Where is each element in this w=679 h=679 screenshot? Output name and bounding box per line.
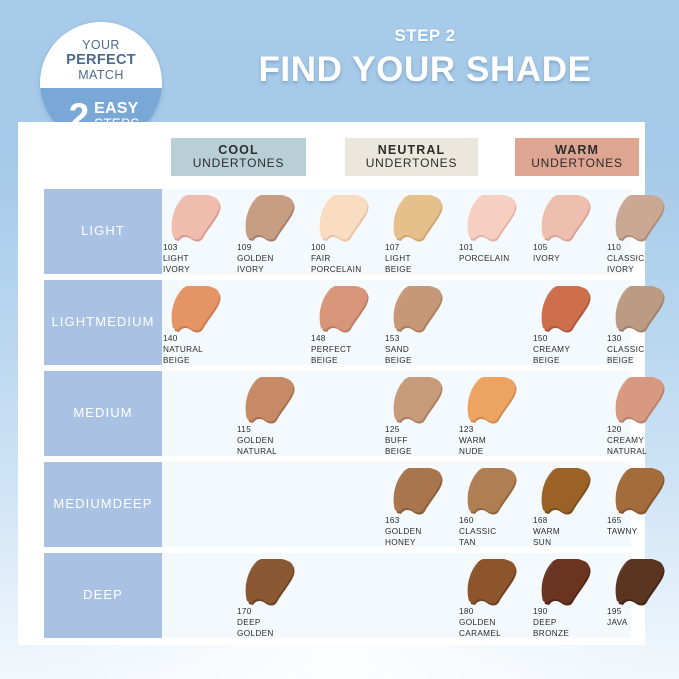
- foundation-swatch-icon: [461, 468, 523, 518]
- shade-code: 105: [533, 243, 605, 254]
- shade-name-line2: BEIGE: [385, 356, 457, 367]
- step-label: STEP 2: [190, 26, 660, 46]
- foundation-swatch-icon: [387, 377, 449, 427]
- foundation-swatch-icon: [165, 195, 227, 245]
- undertone-name-neutral: NEUTRAL: [378, 144, 445, 158]
- shade-name-line2: IVORY: [163, 265, 235, 276]
- shade-cell[interactable]: 109GOLDENIVORY: [237, 189, 305, 274]
- shade-cell[interactable]: 110CLASSICIVORY: [607, 189, 675, 274]
- undertone-name-warm: WARM: [555, 144, 599, 158]
- shade-name-line1: WARM: [459, 436, 531, 447]
- shade-label: 107LIGHTBEIGE: [385, 243, 457, 276]
- shade-name-line2: HONEY: [385, 538, 457, 549]
- shade-label: 160CLASSICTAN: [459, 516, 531, 549]
- shade-label: 170DEEPGOLDEN: [237, 607, 309, 640]
- header-block: STEP 2 FIND YOUR SHADE: [190, 26, 660, 90]
- undertone-header-neutral: NEUTRAL UNDERTONES: [345, 138, 478, 176]
- shade-cell[interactable]: 163GOLDENHONEY: [385, 462, 453, 547]
- shade-code: 140: [163, 334, 235, 345]
- shade-cell[interactable]: 101PORCELAIN: [459, 189, 527, 274]
- shade-name-line1: GOLDEN: [237, 254, 309, 265]
- depth-label: MEDIUMDEEP: [44, 462, 162, 547]
- depth-label-word: DEEP: [83, 587, 123, 603]
- shade-name-line1: DEEP: [237, 618, 309, 629]
- shade-label: 120CREAMYNATURAL: [607, 425, 679, 458]
- shade-cell[interactable]: 107LIGHTBEIGE: [385, 189, 453, 274]
- shade-name-line2: NUDE: [459, 447, 531, 458]
- shade-cell[interactable]: 120CREAMYNATURAL: [607, 371, 675, 456]
- shade-cell[interactable]: 160CLASSICTAN: [459, 462, 527, 547]
- shade-label: 140NATURALBEIGE: [163, 334, 235, 367]
- swatch-track: 163GOLDENHONEY160CLASSICTAN168WARMSUN165…: [163, 462, 645, 547]
- shade-name-line1: GOLDEN: [459, 618, 531, 629]
- undertone-sub-neutral: UNDERTONES: [366, 157, 458, 170]
- shade-name-line1: CLASSIC: [459, 527, 531, 538]
- foundation-swatch-icon: [609, 377, 671, 427]
- shade-cell[interactable]: 150CREAMYBEIGE: [533, 280, 601, 365]
- depth-label: DEEP: [44, 553, 162, 638]
- shade-label: 153SANDBEIGE: [385, 334, 457, 367]
- shade-cell[interactable]: 123WARMNUDE: [459, 371, 527, 456]
- shade-code: 125: [385, 425, 457, 436]
- depth-label-word: DEEP: [113, 496, 153, 512]
- badge-line-perfect: PERFECT: [66, 52, 136, 68]
- swatch-track: 140NATURALBEIGE148PERFECTBEIGE153SANDBEI…: [163, 280, 645, 365]
- shade-code: 100: [311, 243, 383, 254]
- shade-cell[interactable]: 125BUFFBEIGE: [385, 371, 453, 456]
- shade-name-line1: SAND: [385, 345, 457, 356]
- undertone-name-cool: COOL: [218, 144, 259, 158]
- shade-cell[interactable]: 165TAWNY: [607, 462, 675, 547]
- shade-name-line2: BEIGE: [533, 356, 605, 367]
- swatch-track: 170DEEPGOLDEN180GOLDENCARAMEL190DEEPBRON…: [163, 553, 645, 638]
- depth-label-word: LIGHT: [81, 223, 125, 239]
- foundation-swatch-icon: [165, 286, 227, 336]
- badge-line-easy: EASY: [94, 101, 139, 117]
- shade-cell[interactable]: 195JAVA: [607, 553, 675, 638]
- shade-chart-card: COOL UNDERTONES NEUTRAL UNDERTONES WARM …: [18, 122, 645, 645]
- shade-label: 165TAWNY: [607, 516, 679, 538]
- foundation-swatch-icon: [387, 468, 449, 518]
- shade-cell[interactable]: 100FAIRPORCELAIN: [311, 189, 379, 274]
- shade-label: 195JAVA: [607, 607, 679, 629]
- shade-name-line2: BEIGE: [385, 447, 457, 458]
- shade-name-line2: SUN: [533, 538, 605, 549]
- depth-label-word: MEDIUM: [73, 405, 132, 421]
- shade-name-line2: BEIGE: [607, 356, 679, 367]
- shade-row: LIGHT103LIGHTIVORY109GOLDENIVORY100FAIRP…: [18, 189, 645, 274]
- shade-name-line2: BRONZE: [533, 629, 605, 640]
- shade-name-line2: BEIGE: [385, 265, 457, 276]
- shade-cell[interactable]: 115GOLDENNATURAL: [237, 371, 305, 456]
- shade-label: 125BUFFBEIGE: [385, 425, 457, 458]
- shade-code: 120: [607, 425, 679, 436]
- shade-label: 190DEEPBRONZE: [533, 607, 605, 640]
- shade-code: 148: [311, 334, 383, 345]
- foundation-swatch-icon: [609, 468, 671, 518]
- shade-name-line1: TAWNY: [607, 527, 679, 538]
- undertone-header-cool: COOL UNDERTONES: [171, 138, 306, 176]
- shade-row: DEEP170DEEPGOLDEN180GOLDENCARAMEL190DEEP…: [18, 553, 645, 638]
- shade-label: 163GOLDENHONEY: [385, 516, 457, 549]
- shade-name-line1: LIGHT: [385, 254, 457, 265]
- shade-cell[interactable]: 153SANDBEIGE: [385, 280, 453, 365]
- shade-name-line1: GOLDEN: [385, 527, 457, 538]
- shade-code: 107: [385, 243, 457, 254]
- undertone-sub-warm: UNDERTONES: [531, 157, 623, 170]
- shade-label: 150CREAMYBEIGE: [533, 334, 605, 367]
- shade-label: 115GOLDENNATURAL: [237, 425, 309, 458]
- foundation-swatch-icon: [609, 286, 671, 336]
- shade-label: 110CLASSICIVORY: [607, 243, 679, 276]
- shade-cell[interactable]: 180GOLDENCARAMEL: [459, 553, 527, 638]
- shade-name-line1: CLASSIC: [607, 254, 679, 265]
- foundation-swatch-icon: [535, 195, 597, 245]
- foundation-swatch-icon: [535, 286, 597, 336]
- depth-label-word: LIGHT: [51, 314, 95, 330]
- foundation-swatch-icon: [461, 195, 523, 245]
- shade-label: 130CLASSICBEIGE: [607, 334, 679, 367]
- badge-line-match: MATCH: [78, 68, 124, 82]
- shade-cell[interactable]: 170DEEPGOLDEN: [237, 553, 305, 638]
- shade-cell[interactable]: 130CLASSICBEIGE: [607, 280, 675, 365]
- shade-name-line2: NATURAL: [237, 447, 309, 458]
- undertone-sub-cool: UNDERTONES: [193, 157, 285, 170]
- shade-code: 165: [607, 516, 679, 527]
- shade-name-line2: PORCELAIN: [311, 265, 383, 276]
- depth-label: MEDIUM: [44, 371, 162, 456]
- shade-row: MEDIUM115GOLDENNATURAL125BUFFBEIGE123WAR…: [18, 371, 645, 456]
- shade-name-line1: CLASSIC: [607, 345, 679, 356]
- swatch-track: 103LIGHTIVORY109GOLDENIVORY100FAIRPORCEL…: [163, 189, 645, 274]
- shade-name-line1: CREAMY: [533, 345, 605, 356]
- shade-code: 101: [459, 243, 531, 254]
- badge-line-your: YOUR: [82, 38, 120, 52]
- shade-name-line2: TAN: [459, 538, 531, 549]
- page-title: FIND YOUR SHADE: [190, 50, 660, 90]
- foundation-swatch-icon: [609, 195, 671, 245]
- undertone-header-row: COOL UNDERTONES NEUTRAL UNDERTONES WARM …: [18, 122, 645, 182]
- foundation-swatch-icon: [535, 468, 597, 518]
- shade-name-line1: IVORY: [533, 254, 605, 265]
- shade-cell[interactable]: 168WARMSUN: [533, 462, 601, 547]
- shade-code: 150: [533, 334, 605, 345]
- shade-name-line2: IVORY: [607, 265, 679, 276]
- shade-row: LIGHTMEDIUM140NATURALBEIGE148PERFECTBEIG…: [18, 280, 645, 365]
- foundation-swatch-icon: [535, 559, 597, 609]
- shade-label: 168WARMSUN: [533, 516, 605, 549]
- shade-code: 153: [385, 334, 457, 345]
- shade-cell[interactable]: 190DEEPBRONZE: [533, 553, 601, 638]
- shade-label: 180GOLDENCARAMEL: [459, 607, 531, 640]
- shade-code: 168: [533, 516, 605, 527]
- shade-name-line1: DEEP: [533, 618, 605, 629]
- shade-code: 170: [237, 607, 309, 618]
- shade-name-line1: CREAMY: [607, 436, 679, 447]
- shade-code: 160: [459, 516, 531, 527]
- foundation-swatch-icon: [609, 559, 671, 609]
- shade-label: 123WARMNUDE: [459, 425, 531, 458]
- shade-code: 110: [607, 243, 679, 254]
- foundation-swatch-icon: [387, 195, 449, 245]
- shade-label: 148PERFECTBEIGE: [311, 334, 383, 367]
- shade-code: 130: [607, 334, 679, 345]
- foundation-swatch-icon: [239, 195, 301, 245]
- foundation-swatch-icon: [461, 377, 523, 427]
- foundation-swatch-icon: [313, 195, 375, 245]
- shade-label: 109GOLDENIVORY: [237, 243, 309, 276]
- shade-name-line2: GOLDEN: [237, 629, 309, 640]
- shade-row: MEDIUMDEEP163GOLDENHONEY160CLASSICTAN168…: [18, 462, 645, 547]
- shade-name-line2: BEIGE: [163, 356, 235, 367]
- shade-label: 105IVORY: [533, 243, 605, 265]
- poster-stage: YOUR PERFECT MATCH 2 EASY STEPS STEP 2 F…: [0, 0, 679, 679]
- shade-code: 163: [385, 516, 457, 527]
- shade-code: 190: [533, 607, 605, 618]
- undertone-header-warm: WARM UNDERTONES: [515, 138, 639, 176]
- foundation-swatch-icon: [387, 286, 449, 336]
- shade-name-line1: GOLDEN: [237, 436, 309, 447]
- shade-label: 100FAIRPORCELAIN: [311, 243, 383, 276]
- shade-code: 195: [607, 607, 679, 618]
- shade-name-line1: FAIR: [311, 254, 383, 265]
- swatch-track: 115GOLDENNATURAL125BUFFBEIGE123WARMNUDE1…: [163, 371, 645, 456]
- shade-name-line1: PORCELAIN: [459, 254, 531, 265]
- shade-cell[interactable]: 140NATURALBEIGE: [163, 280, 231, 365]
- shade-name-line2: IVORY: [237, 265, 309, 276]
- foundation-swatch-icon: [239, 559, 301, 609]
- foundation-swatch-icon: [461, 559, 523, 609]
- shade-code: 123: [459, 425, 531, 436]
- foundation-swatch-icon: [313, 286, 375, 336]
- shade-name-line1: JAVA: [607, 618, 679, 629]
- shade-name-line2: BEIGE: [311, 356, 383, 367]
- foundation-swatch-icon: [239, 377, 301, 427]
- shade-code: 103: [163, 243, 235, 254]
- shade-cell[interactable]: 103LIGHTIVORY: [163, 189, 231, 274]
- shade-name-line1: PERFECT: [311, 345, 383, 356]
- shade-code: 115: [237, 425, 309, 436]
- shade-name-line1: WARM: [533, 527, 605, 538]
- depth-label: LIGHT: [44, 189, 162, 274]
- shade-name-line2: NATURAL: [607, 447, 679, 458]
- shade-cell[interactable]: 148PERFECTBEIGE: [311, 280, 379, 365]
- shade-name-line1: LIGHT: [163, 254, 235, 265]
- badge-top-text: YOUR PERFECT MATCH: [40, 22, 162, 88]
- shade-name-line1: BUFF: [385, 436, 457, 447]
- shade-label: 103LIGHTIVORY: [163, 243, 235, 276]
- shade-name-line2: CARAMEL: [459, 629, 531, 640]
- shade-name-line1: NATURAL: [163, 345, 235, 356]
- shade-label: 101PORCELAIN: [459, 243, 531, 265]
- depth-label-word: MEDIUM: [95, 314, 154, 330]
- shade-cell[interactable]: 105IVORY: [533, 189, 601, 274]
- shade-code: 180: [459, 607, 531, 618]
- depth-label-word: MEDIUM: [53, 496, 112, 512]
- shade-code: 109: [237, 243, 309, 254]
- depth-label: LIGHTMEDIUM: [44, 280, 162, 365]
